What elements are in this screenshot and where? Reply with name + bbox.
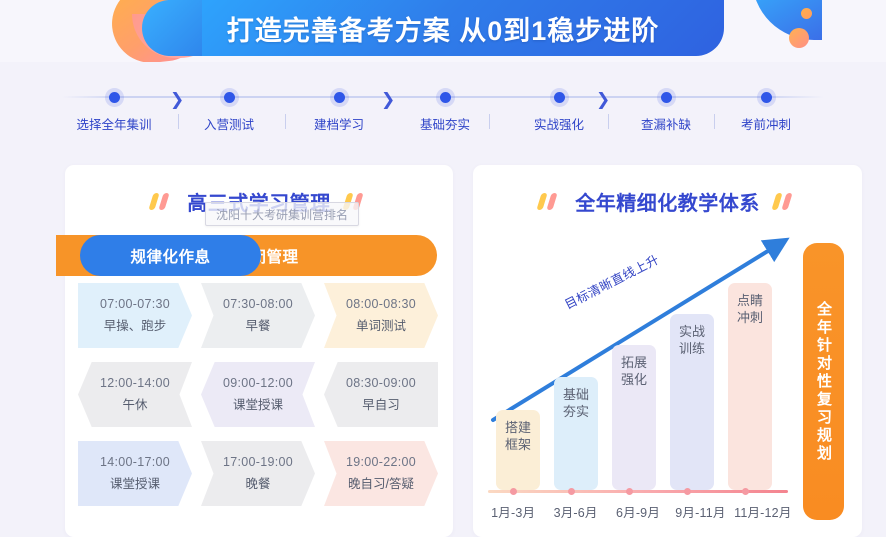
chart-bar-label-line1: 拓展 (621, 354, 647, 371)
chart-x-tick: 3月-6月 (544, 502, 606, 521)
chart-bar: 搭建 框架 (496, 410, 540, 490)
schedule-cell: 14:00-17:00 课堂授课 (78, 441, 192, 506)
schedule-cell: 17:00-19:00 晚餐 (201, 441, 315, 506)
chart-x-tick-labels: 1月-3月 3月-6月 6月-9月 9月-11月 11月-12月 (482, 502, 794, 521)
yearly-review-plan-banner: 全年针对性复习规划 (803, 243, 844, 520)
chart-x-tick: 11月-12月 (732, 502, 794, 521)
chart-plot-area: 目标清晰直线上升 搭建 框架 基础 夯实 拓展 强化 实战 训练 点睛 冲刺 (488, 232, 788, 490)
step-dot-icon (105, 88, 124, 107)
step-progress-bar: 选择全年集训 ❯ 入营测试 建档学习 ❯ 基础夯实 实战强化 ❯ 查漏补缺 (0, 64, 886, 140)
step-dot-icon (330, 88, 349, 107)
step-label: 入营测试 (170, 114, 288, 133)
chart-x-tick: 1月-3月 (482, 502, 544, 521)
schedule-time: 14:00-17:00 (100, 455, 170, 469)
schedule-cell: 09:00-12:00 课堂授课 (201, 362, 315, 427)
schedule-activity: 早餐 (245, 315, 270, 334)
chart-bar: 基础 夯实 (554, 377, 598, 490)
right-card-header: 全年精细化教学体系 (473, 165, 862, 216)
chart-bar: 实战 训练 (670, 314, 714, 490)
toggle-option-regular-schedule[interactable]: 规律化作息 (80, 235, 261, 276)
schedule-activity: 单词测试 (356, 315, 406, 334)
schedule-time: 07:00-07:30 (100, 297, 170, 311)
schedule-cell: 08:30-09:00 早自习 (324, 362, 438, 427)
step-dot-icon (757, 88, 776, 107)
schedule-time: 08:30-09:00 (346, 376, 416, 390)
schedule-time: 08:00-08:30 (346, 297, 416, 311)
schedule-activity: 晚餐 (245, 473, 270, 492)
schedule-activity: 课堂授课 (233, 394, 283, 413)
banner-title: 打造完善备考方案 从0到1稳步进阶 (0, 0, 886, 56)
schedule-activity: 课堂授课 (110, 473, 160, 492)
schedule-cell: 07:30-08:00 早餐 (201, 283, 315, 348)
quote-mark-icon (772, 193, 798, 210)
schedule-time: 19:00-22:00 (346, 455, 416, 469)
schedule-cell: 19:00-22:00 晚自习/答疑 (324, 441, 438, 506)
schedule-cell: 08:00-08:30 单词测试 (324, 283, 438, 348)
chart-bar: 点睛 冲刺 (728, 283, 772, 490)
chart-bar-label-line2: 框架 (505, 436, 531, 453)
quote-mark-icon (149, 193, 175, 210)
yearly-review-plan-label: 全年针对性复习规划 (813, 301, 834, 463)
watermark-tooltip: 沈阳十大考研集训营排名 (205, 202, 359, 226)
header-banner: 打造完善备考方案 从0到1稳步进阶 (0, 0, 886, 62)
step-item-7[interactable]: 考前冲刺 (707, 64, 825, 133)
yearly-plan-chart: 目标清晰直线上升 搭建 框架 基础 夯实 拓展 强化 实战 训练 点睛 冲刺 (488, 232, 848, 527)
schedule-activity: 晚自习/答疑 (348, 473, 414, 492)
chart-bar-label-line1: 实战 (679, 323, 705, 340)
step-dot-icon (657, 88, 676, 107)
step-divider (489, 114, 490, 129)
chart-x-axis (488, 490, 788, 493)
schedule-time: 12:00-14:00 (100, 376, 170, 390)
schedule-activity: 早操、跑步 (104, 315, 167, 334)
chart-x-tick: 6月-9月 (607, 502, 669, 521)
chart-bar-label-line1: 搭建 (505, 419, 531, 436)
page-root: 打造完善备考方案 从0到1稳步进阶 选择全年集训 ❯ 入营测试 建档学习 ❯ 基… (0, 0, 886, 537)
schedule-time: 07:30-08:00 (223, 297, 293, 311)
chart-bar-label-line2: 夯实 (563, 403, 589, 420)
schedule-row: 07:00-07:30 早操、跑步 07:30-08:00 早餐 08:00-0… (78, 283, 438, 348)
step-dot-icon (550, 88, 569, 107)
schedule-activity: 早自习 (362, 394, 400, 413)
schedule-time: 09:00-12:00 (223, 376, 293, 390)
right-card-title: 全年精细化教学体系 (575, 187, 760, 216)
chart-bar-label-line2: 冲刺 (737, 309, 763, 326)
schedule-time: 17:00-19:00 (223, 455, 293, 469)
chart-bar: 拓展 强化 (612, 345, 656, 490)
step-label: 建档学习 (280, 114, 398, 133)
step-dot-icon (436, 88, 455, 107)
management-mode-toggle[interactable]: 半封闭管理 规律化作息 (80, 235, 437, 276)
schedule-row: 14:00-17:00 课堂授课 17:00-19:00 晚餐 19:00-22… (78, 441, 438, 506)
chart-x-tick: 9月-11月 (669, 502, 731, 521)
schedule-cell: 12:00-14:00 午休 (78, 362, 192, 427)
schedule-cell: 07:00-07:30 早操、跑步 (78, 283, 192, 348)
step-item-1[interactable]: 选择全年集训 (55, 64, 173, 133)
schedule-row: 12:00-14:00 午休 09:00-12:00 课堂授课 08:30-09… (78, 362, 438, 427)
step-item-2[interactable]: 入营测试 (170, 64, 288, 133)
chart-bar-label-line2: 训练 (679, 340, 705, 357)
chart-bar-label-line1: 点睛 (737, 292, 763, 309)
step-label: 实战强化 (500, 114, 618, 133)
step-label: 考前冲刺 (707, 114, 825, 133)
step-label: 选择全年集训 (55, 114, 173, 133)
quote-mark-icon (537, 193, 563, 210)
daily-schedule-grid: 07:00-07:30 早操、跑步 07:30-08:00 早餐 08:00-0… (78, 283, 438, 520)
chart-bar-label-line1: 基础 (563, 386, 589, 403)
chart-bar-label-line2: 强化 (621, 371, 647, 388)
step-dot-icon (220, 88, 239, 107)
schedule-activity: 午休 (122, 394, 147, 413)
step-label: 基础夯实 (386, 114, 504, 133)
step-item-4[interactable]: 基础夯实 (386, 64, 504, 133)
